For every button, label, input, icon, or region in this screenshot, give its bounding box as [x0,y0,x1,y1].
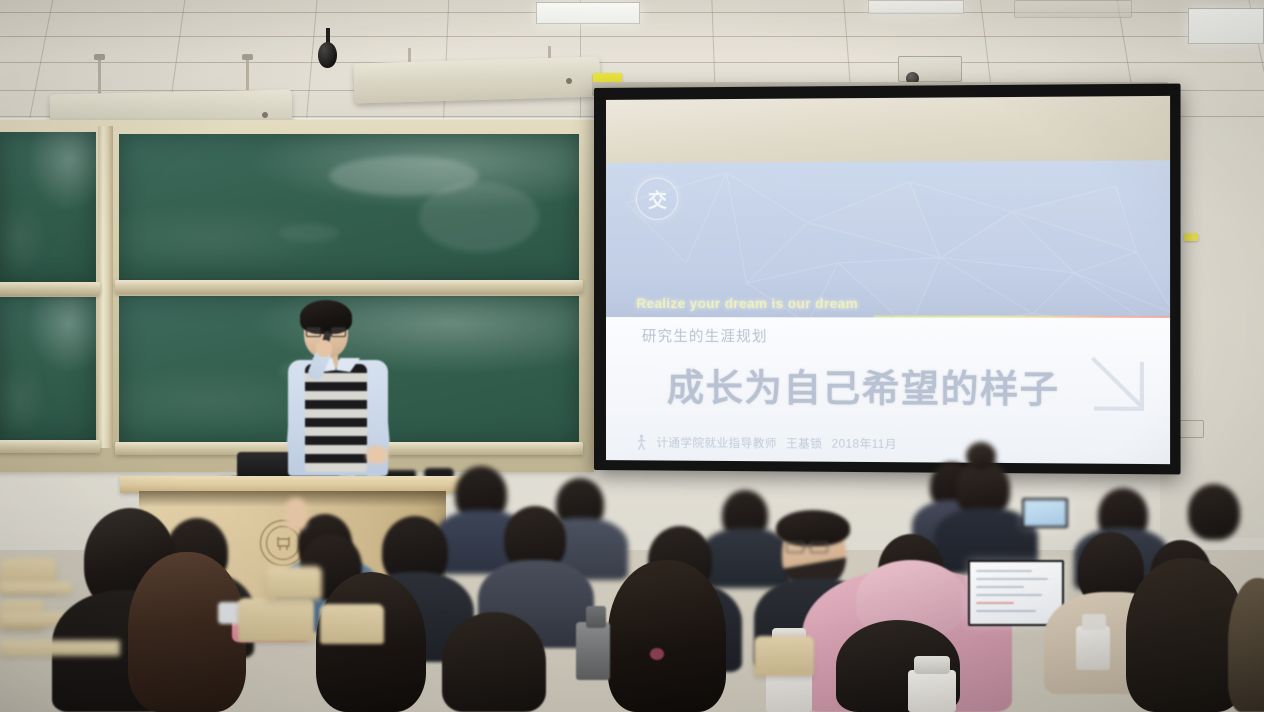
projection-screen[interactable]: 交 Realize your dream is our dream 研究生的生涯… [594,84,1181,475]
chalk-rail [115,280,583,293]
water-bottle [576,622,610,680]
slide-title: 成长为自己希望的样子 [667,358,1060,414]
slide-tagline: Realize your dream is our dream [636,296,858,311]
ceiling-mount-beam [1014,0,1132,18]
chalkboard-divider [98,126,113,448]
water-bottle [908,670,956,712]
ceiling-light-panel [1188,8,1264,44]
presenter-hand [316,340,332,357]
hair-tie [650,648,664,660]
audience [0,440,1264,712]
chair [754,636,814,676]
chalkboard-panel [119,134,579,282]
ceiling-light-panel [536,2,640,24]
ceiling-light-panel [868,0,964,14]
audience-laptop-screen [1022,498,1068,528]
chalkboard-panel [0,132,96,284]
audience-glasses-icon [786,540,828,551]
hair-bun [966,442,996,470]
audience-head-ponytail [608,560,726,712]
audience-head-long-hair [128,552,246,712]
chair [238,598,314,642]
chair [320,604,384,644]
bottle-cap [914,656,950,674]
audience-head [442,612,546,712]
wall-label-tag [1184,233,1198,241]
screen-blank-area [606,96,1170,165]
desk [0,582,72,594]
bottle-cap [1082,614,1106,630]
water-bottle [586,606,606,628]
audience-raised-hand [285,498,307,530]
presentation-slide: 交 Realize your dream is our dream 研究生的生涯… [606,160,1170,464]
water-bottle [1076,626,1110,670]
audience-head [1188,484,1240,540]
chalkboard-panel [0,297,96,443]
desk [0,640,120,656]
slide-upper-panel: 交 Realize your dream is our dream [606,160,1170,318]
chalk-rail [0,282,100,295]
lecture-hall-scene: 交 Realize your dream is our dream 研究生的生涯… [0,0,1264,712]
slide-subtitle: 研究生的生涯规划 [642,325,768,346]
diagonal-arrow-down-right-icon [1088,353,1153,417]
chair [266,566,322,600]
wall-outlet [1178,420,1204,438]
